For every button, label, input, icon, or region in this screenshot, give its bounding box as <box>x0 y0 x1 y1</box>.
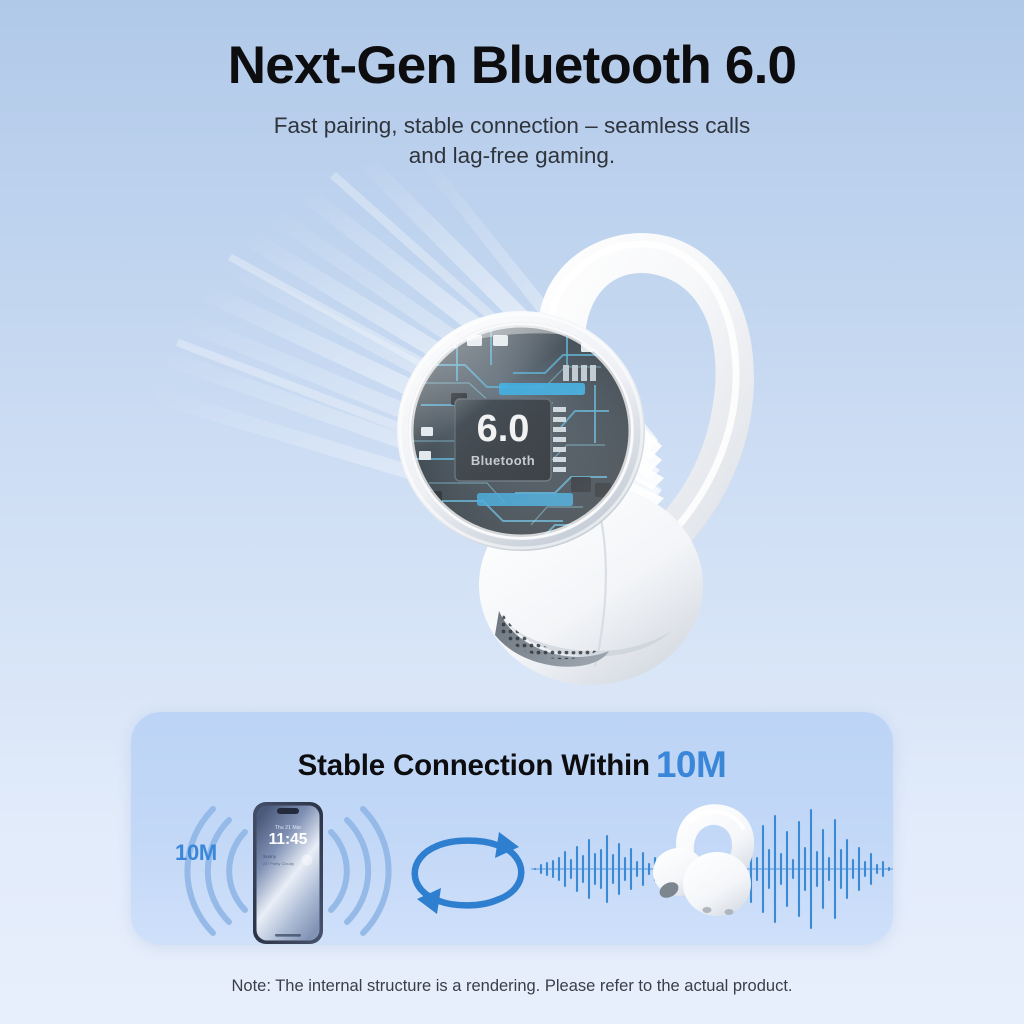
footnote: Note: The internal structure is a render… <box>0 977 1024 996</box>
card-title: Stable Connection Within10M <box>131 744 893 786</box>
product-marketing-page: Next-Gen Bluetooth 6.0 Fast pairing, sta… <box>0 0 1024 1024</box>
phone-weather-text: Sunny <box>263 854 277 859</box>
earbud-product-image: 6.0 Bluetooth <box>395 215 795 695</box>
subtitle-line-1: Fast pairing, stable connection – seamle… <box>274 113 751 138</box>
card-illustration-row: 11:45 Thu 21 Mar Sunny 23° Partly Cloudy <box>131 800 893 945</box>
audio-wave-earbuds-graphic <box>531 792 893 945</box>
feature-card: Stable Connection Within10M <box>131 712 893 945</box>
card-title-accent: 10M <box>656 744 726 785</box>
phone-with-signal-graphic: 11:45 Thu 21 Mar Sunny 23° Partly Cloudy <box>183 796 393 945</box>
distance-loop-graphic <box>403 818 533 928</box>
distance-loop-label: 10M <box>131 840 261 866</box>
phone-weather-detail-text: 23° Partly Cloudy <box>263 861 294 866</box>
phone-date-text: Thu 21 Mar <box>275 825 302 831</box>
hero-stage: 6.0 Bluetooth <box>0 150 1024 710</box>
phone-time-text: 11:45 <box>269 831 308 848</box>
card-title-text: Stable Connection Within <box>298 749 650 782</box>
page-title: Next-Gen Bluetooth 6.0 <box>0 38 1024 94</box>
